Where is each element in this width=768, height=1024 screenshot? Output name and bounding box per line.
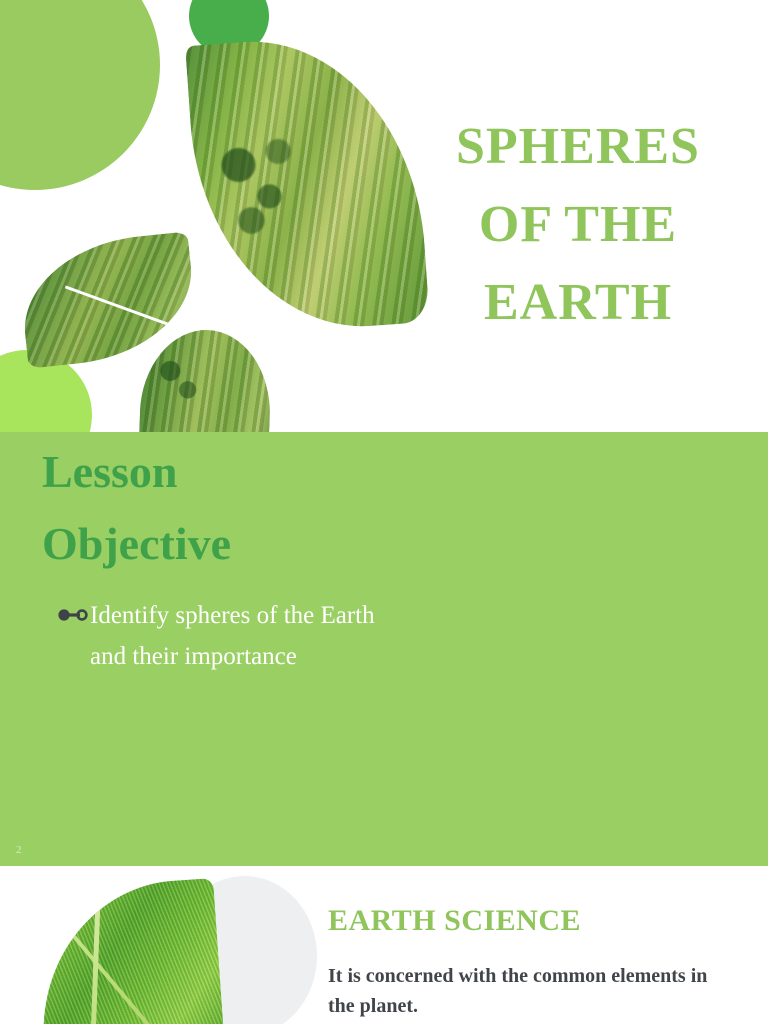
slide-lesson-objective: Lesson Objective Identify spheres of the… bbox=[0, 432, 768, 866]
section-heading: Lesson Objective bbox=[42, 436, 372, 580]
green-leaf-photo bbox=[33, 878, 226, 1024]
large-leaf-image bbox=[185, 31, 430, 338]
slides-page: SPHERES OF THE EARTH Lesson Objective Id… bbox=[0, 0, 768, 1024]
light-green-circle-decoration bbox=[0, 0, 160, 190]
small-leaf-image-bottom bbox=[137, 328, 273, 432]
key-bullet-icon bbox=[58, 608, 88, 627]
list-item: Identify spheres of the Earth and their … bbox=[58, 595, 428, 677]
slide-earth-science: EARTH SCIENCE It is concerned with the c… bbox=[0, 866, 768, 1024]
page-number: 2 bbox=[16, 844, 22, 856]
slide-title: SPHERES OF THE EARTH bbox=[0, 0, 768, 432]
page-title: SPHERES OF THE EARTH bbox=[418, 108, 738, 342]
section-title: EARTH SCIENCE bbox=[328, 904, 581, 938]
section-body-text: It is concerned with the common elements… bbox=[328, 961, 710, 1021]
bullet-text: Identify spheres of the Earth and their … bbox=[90, 595, 410, 677]
